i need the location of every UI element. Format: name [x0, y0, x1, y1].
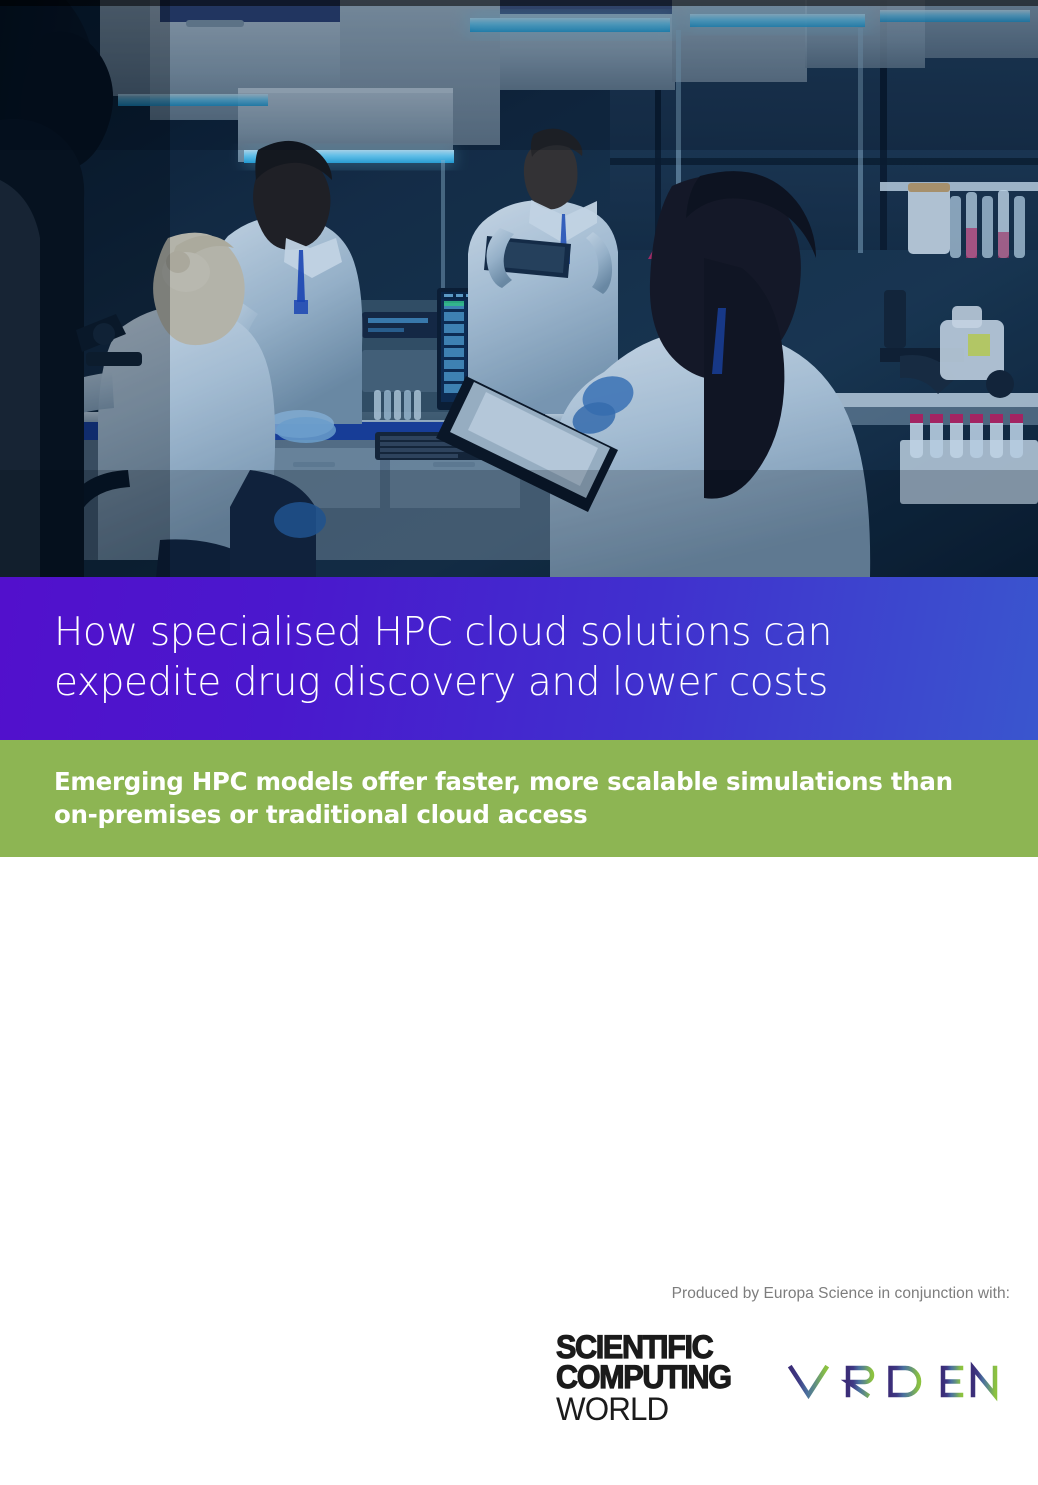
page-subtitle: Emerging HPC models offer faster, more s…	[0, 765, 1038, 832]
scw-logo-line-1: SCIENTIFIC	[556, 1332, 742, 1362]
partner-logo-row: SCIENTIFIC COMPUTING WORLD	[0, 1332, 1038, 1424]
page-title: How specialised HPC cloud solutions can …	[0, 608, 1038, 708]
laboratory-research-team-photo	[0, 0, 1038, 577]
whitepaper-cover-page: How specialised HPC cloud solutions can …	[0, 0, 1038, 1485]
title-band: How specialised HPC cloud solutions can …	[0, 577, 1038, 740]
scw-logo-line-2: COMPUTING	[556, 1362, 742, 1392]
produced-by-credit: Produced by Europa Science in conjunctio…	[672, 1285, 1010, 1303]
scw-logo-line-3: WORLD	[556, 1394, 747, 1424]
scientific-computing-world-logo[interactable]: SCIENTIFIC COMPUTING WORLD	[556, 1332, 751, 1424]
viridien-wordmark	[785, 1352, 1010, 1404]
subtitle-band: Emerging HPC models offer faster, more s…	[0, 740, 1038, 857]
footer: Produced by Europa Science in conjunctio…	[0, 1270, 1038, 1470]
viridien-logo[interactable]	[785, 1352, 1010, 1404]
hero-photo	[0, 0, 1038, 577]
